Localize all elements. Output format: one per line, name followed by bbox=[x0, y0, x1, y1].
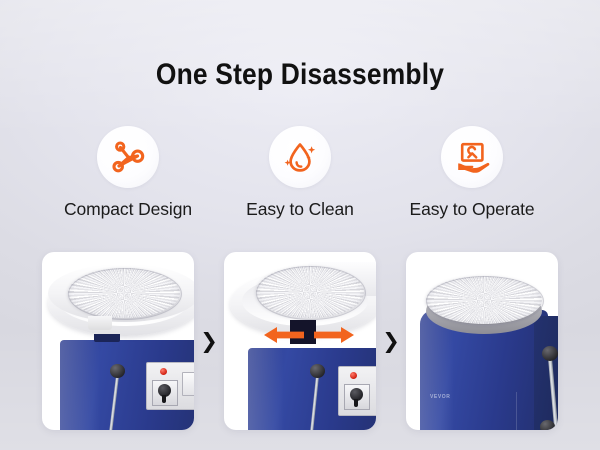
feature-label: Easy to Operate bbox=[410, 199, 535, 220]
feature-label: Compact Design bbox=[64, 199, 192, 220]
wheel-head-rim bbox=[426, 276, 544, 326]
feature-item-easy-to-clean: Easy to Clean bbox=[225, 126, 375, 220]
power-indicator-led bbox=[160, 368, 167, 375]
lever-ball-knob-bottom[interactable] bbox=[540, 420, 555, 430]
brand-logo: VEVOR bbox=[430, 394, 451, 400]
lever-ball-knob[interactable] bbox=[310, 364, 325, 378]
wheel-head-rim bbox=[68, 268, 182, 320]
step-separator-1: ❯ bbox=[194, 331, 224, 352]
step-sequence: ❯ bbox=[0, 248, 600, 434]
hand-holding-tool-panel-icon bbox=[441, 126, 503, 188]
molecule-icon bbox=[97, 126, 159, 188]
feature-item-easy-to-operate: Easy to Operate bbox=[397, 126, 547, 220]
splash-pan-tab bbox=[88, 316, 112, 330]
power-indicator-led bbox=[350, 372, 357, 379]
water-drop-sparkle-icon bbox=[269, 126, 331, 188]
step-image-2-detach-splash-pan bbox=[224, 252, 376, 430]
product-feature-banner: One Step Disassembly Compa bbox=[0, 0, 600, 450]
wheel-head-rim bbox=[256, 266, 366, 320]
detach-arrow-right bbox=[314, 326, 354, 349]
feature-list: Compact Design Easy to Clean bbox=[0, 126, 600, 220]
page-title: One Step Disassembly bbox=[36, 58, 564, 92]
feature-label: Easy to Clean bbox=[246, 199, 354, 220]
step-image-3-wheel-head-exposed: VEVOR bbox=[406, 252, 558, 430]
pottery-wheel-illustration-2 bbox=[224, 252, 376, 430]
step-image-1-assembled-wheel bbox=[42, 252, 194, 430]
lever-ball-knob[interactable] bbox=[110, 364, 125, 378]
lever-ball-knob-top[interactable] bbox=[542, 346, 558, 361]
pottery-wheel-illustration-3: VEVOR bbox=[406, 252, 558, 430]
feature-item-compact-design: Compact Design bbox=[53, 126, 203, 220]
body-seam bbox=[516, 392, 517, 430]
detach-arrow-left bbox=[264, 326, 304, 349]
knob-pointer bbox=[162, 395, 166, 403]
knob-pointer bbox=[354, 399, 358, 407]
rocker-switch[interactable] bbox=[182, 372, 194, 396]
body-notch bbox=[94, 334, 120, 342]
step-separator-2: ❯ bbox=[376, 331, 406, 352]
pottery-wheel-illustration-1 bbox=[42, 252, 194, 430]
